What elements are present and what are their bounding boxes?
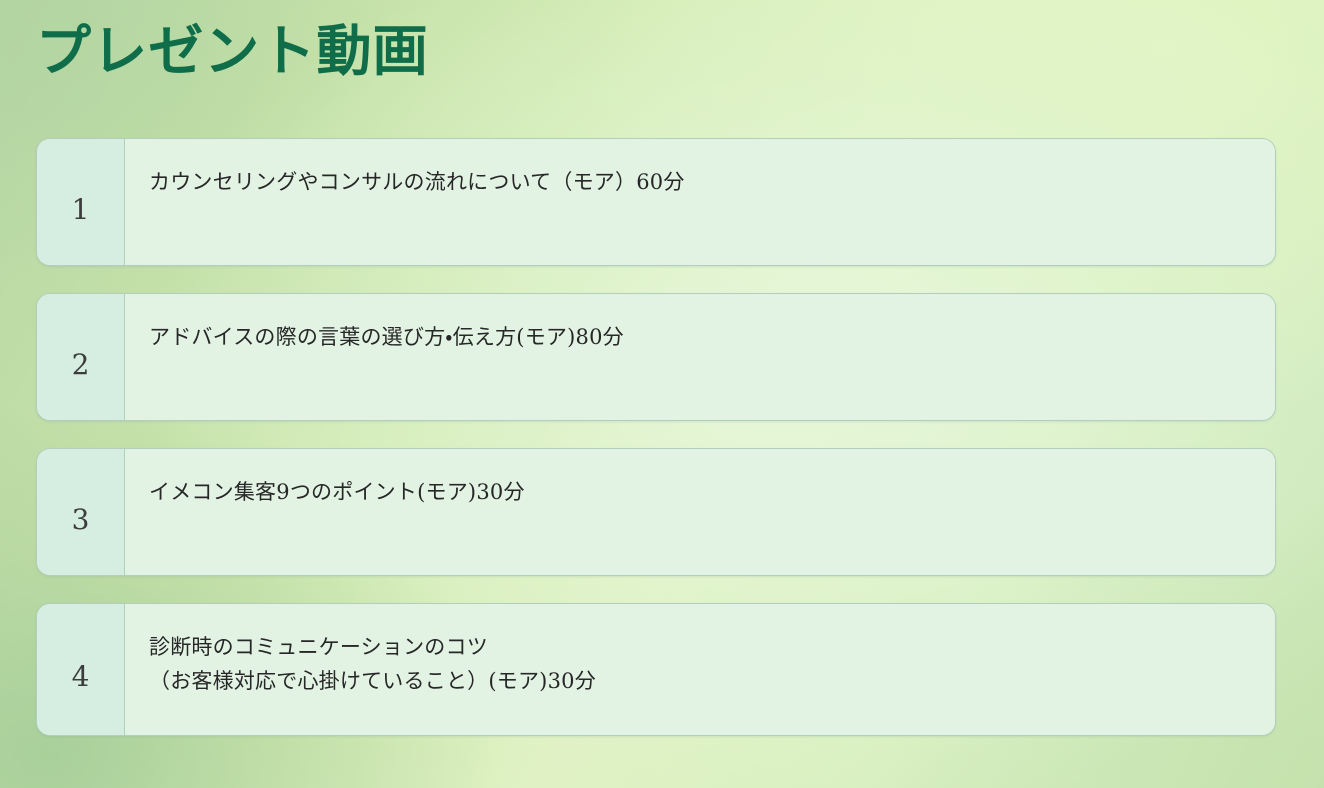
list-item[interactable]: 2 アドバイスの際の言葉の選び方・伝え方(モア)80分 (36, 293, 1276, 421)
list-item-content: イメコン集客9つのポイント(モア)30分 (125, 449, 1275, 575)
list-item-number: 2 (37, 294, 125, 420)
list-item[interactable]: 4 診断時のコミュニケーションのコツ （お客様対応で心掛けていること）(モア)3… (36, 603, 1276, 736)
page-title: プレゼント動画 (36, 18, 429, 84)
list-item-number: 1 (37, 139, 125, 265)
list-item-text-line: イメコン集客9つのポイント(モア)30分 (149, 475, 1255, 509)
list-item-text-line: カウンセリングやコンサルの流れについて（モア）60分 (149, 165, 1255, 199)
list-item-content: カウンセリングやコンサルの流れについて（モア）60分 (125, 139, 1275, 265)
list-item[interactable]: 1 カウンセリングやコンサルの流れについて（モア）60分 (36, 138, 1276, 266)
list-item-content: アドバイスの際の言葉の選び方・伝え方(モア)80分 (125, 294, 1275, 420)
list-item-text-line: アドバイスの際の言葉の選び方・伝え方(モア)80分 (149, 320, 1255, 354)
list-item-text-line: （お客様対応で心掛けていること）(モア)30分 (149, 664, 1255, 698)
list-item-number: 3 (37, 449, 125, 575)
list-item[interactable]: 3 イメコン集客9つのポイント(モア)30分 (36, 448, 1276, 576)
page-root: プレゼント動画 1 カウンセリングやコンサルの流れについて（モア）60分 2 ア… (0, 0, 1324, 788)
list-item-content: 診断時のコミュニケーションのコツ （お客様対応で心掛けていること）(モア)30分 (125, 604, 1275, 735)
video-list: 1 カウンセリングやコンサルの流れについて（モア）60分 2 アドバイスの際の言… (36, 138, 1276, 736)
list-item-number: 4 (37, 604, 125, 735)
list-item-text-line: 診断時のコミュニケーションのコツ (149, 630, 1255, 664)
